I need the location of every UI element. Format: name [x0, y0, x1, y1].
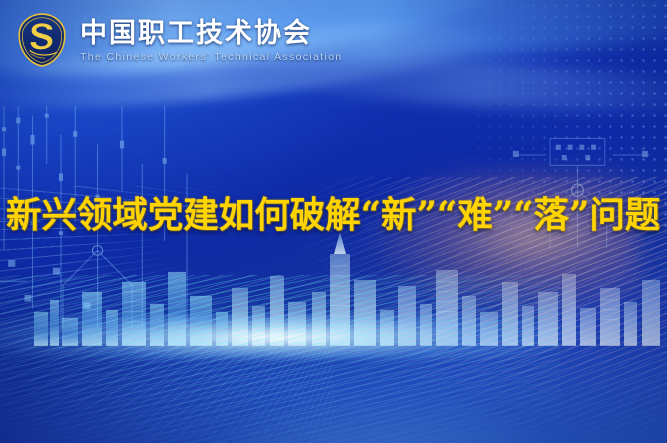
- promotional-banner: 中国职工技术协会 The Chinese Workers' Technical …: [0, 0, 667, 443]
- city-skyline-silhouette: [0, 226, 667, 368]
- headline-title: 新兴领域党建如何破解“新”“难”“落”问题: [6, 197, 660, 233]
- headline-area: 新兴领域党建如何破解“新”“难”“落”问题: [0, 186, 667, 244]
- light-streaks-bottom: [0, 275, 560, 443]
- banner-header: 中国职工技术协会 The Chinese Workers' Technical …: [0, 0, 667, 80]
- horizon-glow: [0, 315, 667, 359]
- org-name-chinese: 中国职工技术协会: [80, 19, 343, 48]
- shield-emblem-icon: [16, 12, 68, 68]
- org-title-block: 中国职工技术协会 The Chinese Workers' Technical …: [80, 17, 343, 64]
- org-name-english: The Chinese Workers' Technical Associati…: [80, 51, 343, 63]
